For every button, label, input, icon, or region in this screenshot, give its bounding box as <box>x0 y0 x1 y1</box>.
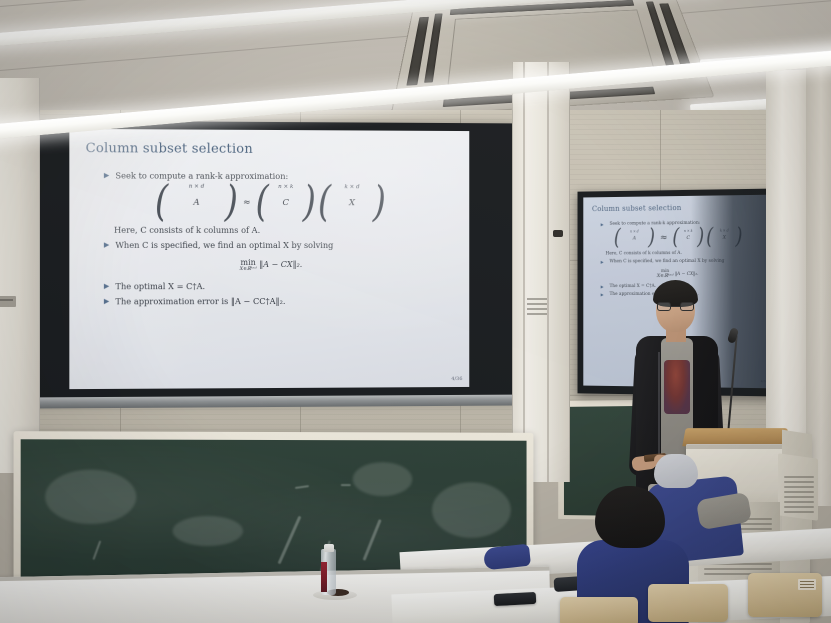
min-expression: ‖A − CX‖₂. <box>259 260 302 269</box>
podium-vent-grille <box>784 476 814 513</box>
paren-close-icon: ) <box>648 231 655 247</box>
glasses-icon <box>657 302 694 311</box>
side-matrix-a-symbol: A <box>633 236 636 241</box>
slide-page-indicator: 4/36 <box>451 376 462 382</box>
slide-bullet-3-text: The optimal X = C†A. <box>115 281 205 292</box>
slide-main: Column subset selection ▶ Seek to comput… <box>69 129 469 389</box>
bullet-triangle-icon: ▶ <box>601 259 604 265</box>
slide-bullet-4: ▶ The approximation error is ‖A − CC†A‖₂… <box>104 296 454 308</box>
audience-member-left-arm <box>483 544 531 571</box>
chalk-smudge <box>353 462 413 496</box>
matrix-a-body: n × d A <box>168 198 224 208</box>
smartphone-on-desk-1[interactable] <box>494 592 537 606</box>
matrix-x-dims: k × d <box>344 184 359 190</box>
chalk-streak <box>295 485 309 489</box>
paren-open-icon: ( <box>155 188 168 218</box>
side-matrix-a-dims: n × d <box>630 229 639 233</box>
matrix-a-symbol: A <box>193 198 199 208</box>
water-bottle-cap <box>324 544 334 552</box>
chair-frame <box>556 594 642 623</box>
pillar-knob-icon <box>553 230 563 237</box>
chalk-smudge <box>432 482 511 538</box>
chalk-streak <box>341 484 351 486</box>
bullet-triangle-icon: ▶ <box>104 240 109 251</box>
slide-title: Column subset selection <box>86 141 454 158</box>
chalk-streak <box>363 519 382 561</box>
presenter-tshirt-graphic <box>664 360 690 414</box>
paren-open-icon: ( <box>318 188 331 218</box>
matrix-equation: ( n × d A ) ≈ ( n × k C <box>86 191 454 216</box>
audience-member-foreground-hair <box>595 486 665 548</box>
matrix-c-dims: n × k <box>278 184 293 190</box>
chalk-streak <box>278 516 302 565</box>
water-bottle-label <box>321 562 327 592</box>
slide-bullet-3: ▶ The optimal X = C†A. <box>104 281 454 292</box>
matrix-c-body: n × k C <box>269 198 303 208</box>
presenter-jacket-zipper <box>658 352 660 468</box>
matrix-x: ( k × d X ) <box>318 191 386 215</box>
chalk-streak <box>92 540 101 560</box>
slide-bullet-2: ▶ When C is specified, we find an optima… <box>104 240 454 251</box>
audience-member-back-head <box>654 454 698 488</box>
audience-member-left-arm-group <box>484 546 530 580</box>
matrix-x-body: k × d X <box>331 198 373 208</box>
matrix-a: ( n × d A ) <box>155 191 238 215</box>
paren-open-icon: ( <box>614 231 621 247</box>
min-subscript: X∈ℝᵏˣᵈ <box>240 267 257 272</box>
side-matrix-a-body: n × d A <box>621 236 648 241</box>
chair-frame <box>644 581 732 623</box>
main-display-screen[interactable]: Column subset selection ▶ Seek to comput… <box>69 129 469 389</box>
matrix-x-symbol: X <box>349 198 355 208</box>
podium-lip <box>686 444 786 449</box>
chair[interactable] <box>748 573 822 617</box>
matrix-c-symbol: C <box>282 198 289 208</box>
wall-sign-icon <box>0 296 16 307</box>
slide-bullet-2-text: When C is specified, we find an optimal … <box>115 240 333 251</box>
chair-frame <box>744 570 826 620</box>
bullet-triangle-icon: ▶ <box>601 284 604 290</box>
min-equation: min X∈ℝᵏˣᵈ ‖A − CX‖₂. <box>86 258 454 272</box>
approx-sign: ≈ <box>243 198 251 208</box>
main-display-panel[interactable]: Column subset selection ▶ Seek to comput… <box>31 121 518 400</box>
bullet-triangle-icon: ▶ <box>601 222 604 228</box>
pillar-groove <box>547 62 549 482</box>
pillar-label-marks <box>527 298 547 320</box>
paren-close-icon: ) <box>303 188 316 218</box>
bullet-triangle-icon: ▶ <box>104 281 109 292</box>
paren-close-icon: ) <box>225 188 238 218</box>
glasses-bridge <box>671 306 680 307</box>
paren-open-icon: ( <box>255 188 268 218</box>
min-operator-stack: min X∈ℝᵏˣᵈ <box>240 258 257 272</box>
paren-open-icon: ( <box>672 230 679 246</box>
lecture-hall-scene: Column subset selection ▶ Seek to comput… <box>0 0 831 623</box>
chair[interactable] <box>648 584 728 622</box>
paren-close-icon: ) <box>373 188 386 218</box>
bullet-triangle-icon: ▶ <box>601 292 604 298</box>
chalk-smudge <box>173 516 243 546</box>
side-matrix-c-symbol: C <box>686 236 689 241</box>
pillar-groove <box>523 62 525 482</box>
glasses-lens-right <box>680 302 694 311</box>
glasses-lens-left <box>657 302 671 311</box>
bullet-triangle-icon: ▶ <box>104 170 109 181</box>
pillar-center <box>512 62 570 482</box>
matrix-a-dims: n × d <box>189 184 205 190</box>
side-approx-sign: ≈ <box>660 233 667 243</box>
bullet-triangle-icon: ▶ <box>104 296 109 307</box>
chair-seat-tag <box>798 579 816 590</box>
side-matrix-a: ( n × d A ) <box>614 232 655 245</box>
matrix-c: ( n × k C ) <box>255 191 315 215</box>
chair[interactable] <box>560 597 638 623</box>
chalk-smudge <box>45 470 136 524</box>
slide-bullet-4-text: The approximation error is ‖A − CC†A‖₂. <box>115 296 285 307</box>
